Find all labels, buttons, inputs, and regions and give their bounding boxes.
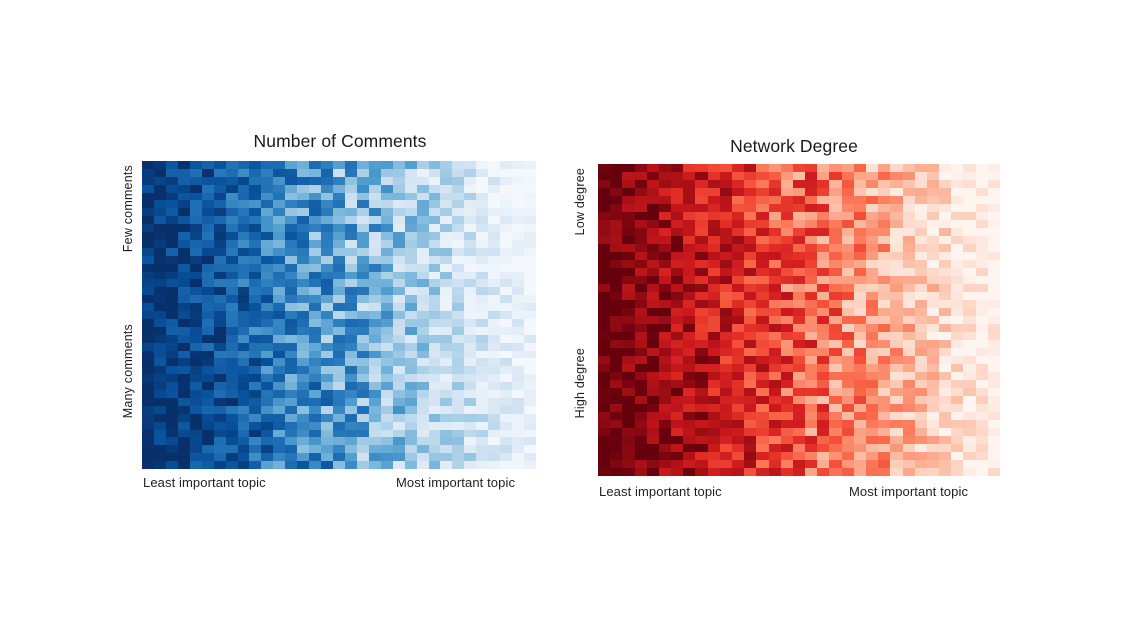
heatmap-network-degree: [598, 164, 1000, 476]
heatmap-number-of-comments: [142, 161, 536, 469]
y-axis-label-low-degree: Low degree: [574, 168, 587, 235]
page-title-number-of-comments: Number of Comments: [142, 131, 538, 152]
chart-panel-number-of-comments: Number of Comments Few comments Many com…: [118, 131, 538, 496]
y-axis-label-many-comments: Many comments: [122, 324, 135, 418]
x-axis-label-least-important-topic: Least important topic: [599, 484, 722, 499]
x-axis-label-most-important-topic: Most important topic: [849, 484, 968, 499]
chart-panel-network-degree: Network Degree Low degree High degree Le…: [568, 136, 1008, 504]
page-title-network-degree: Network Degree: [598, 136, 990, 157]
x-axis-label-least-important-topic: Least important topic: [143, 475, 266, 490]
y-axis-label-few-comments: Few comments: [122, 165, 135, 252]
x-axis-label-most-important-topic: Most important topic: [396, 475, 515, 490]
y-axis-label-high-degree: High degree: [574, 348, 587, 418]
slide-canvas: { "page": { "background": "#ffffff", "wi…: [0, 0, 1122, 631]
